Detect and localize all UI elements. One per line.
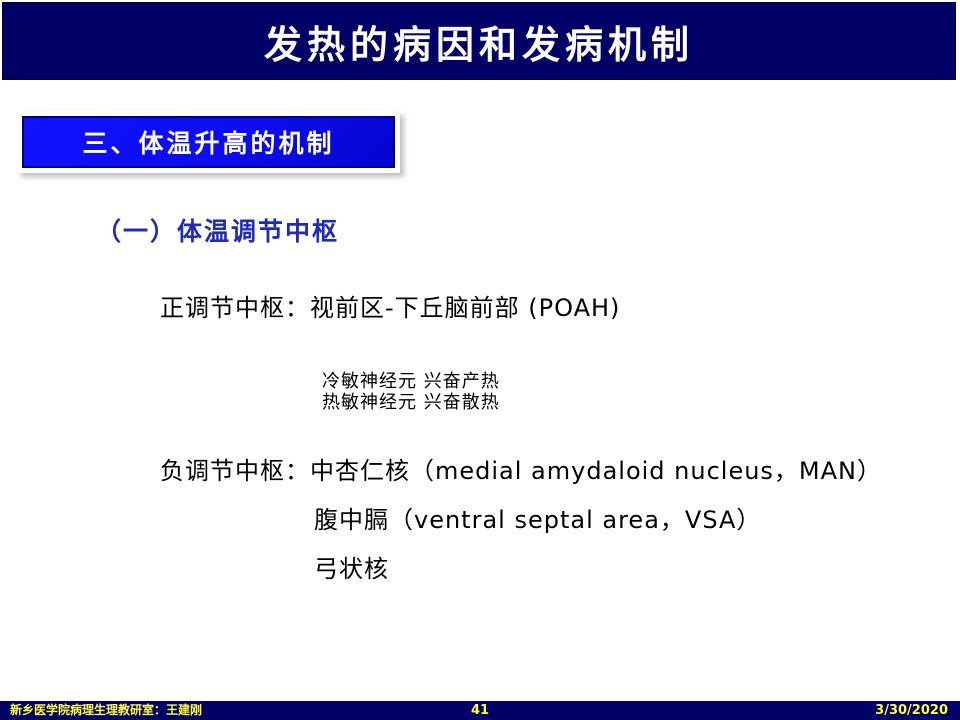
content-line-cold-neuron: 冷敏神经元 兴奋产热 — [322, 367, 500, 393]
section-header-label: 三、体温升高的机制 — [82, 124, 334, 160]
content-line-positive-center: 正调节中枢：视前区-下丘脑前部 (POAH) — [160, 288, 620, 323]
content-line-warm-neuron: 热敏神经元 兴奋散热 — [322, 388, 500, 414]
footer-page-number: 41 — [0, 701, 960, 720]
content-line-arcuate-nucleus: 弓状核 — [314, 549, 389, 584]
subsection-heading: （一）体温调节中枢 — [96, 212, 339, 248]
content-line-negative-center: 负调节中枢：中杏仁核（medial amydaloid nucleus，MAN） — [160, 451, 882, 486]
page-title: 发热的病因和发病机制 — [264, 14, 694, 69]
slide-title-bar: 发热的病因和发病机制 — [2, 2, 956, 80]
content-line-vsa: 腹中膈（ventral septal area，VSA） — [314, 500, 761, 535]
footer-date: 3/30/2020 — [875, 701, 948, 720]
slide-content-area: 正调节中枢：视前区-下丘脑前部 (POAH) 冷敏神经元 兴奋产热 热敏神经元 … — [0, 0, 960, 720]
section-header-box-inner: 三、体温升高的机制 — [22, 116, 395, 168]
section-header-box: 三、体温升高的机制 — [17, 111, 400, 173]
